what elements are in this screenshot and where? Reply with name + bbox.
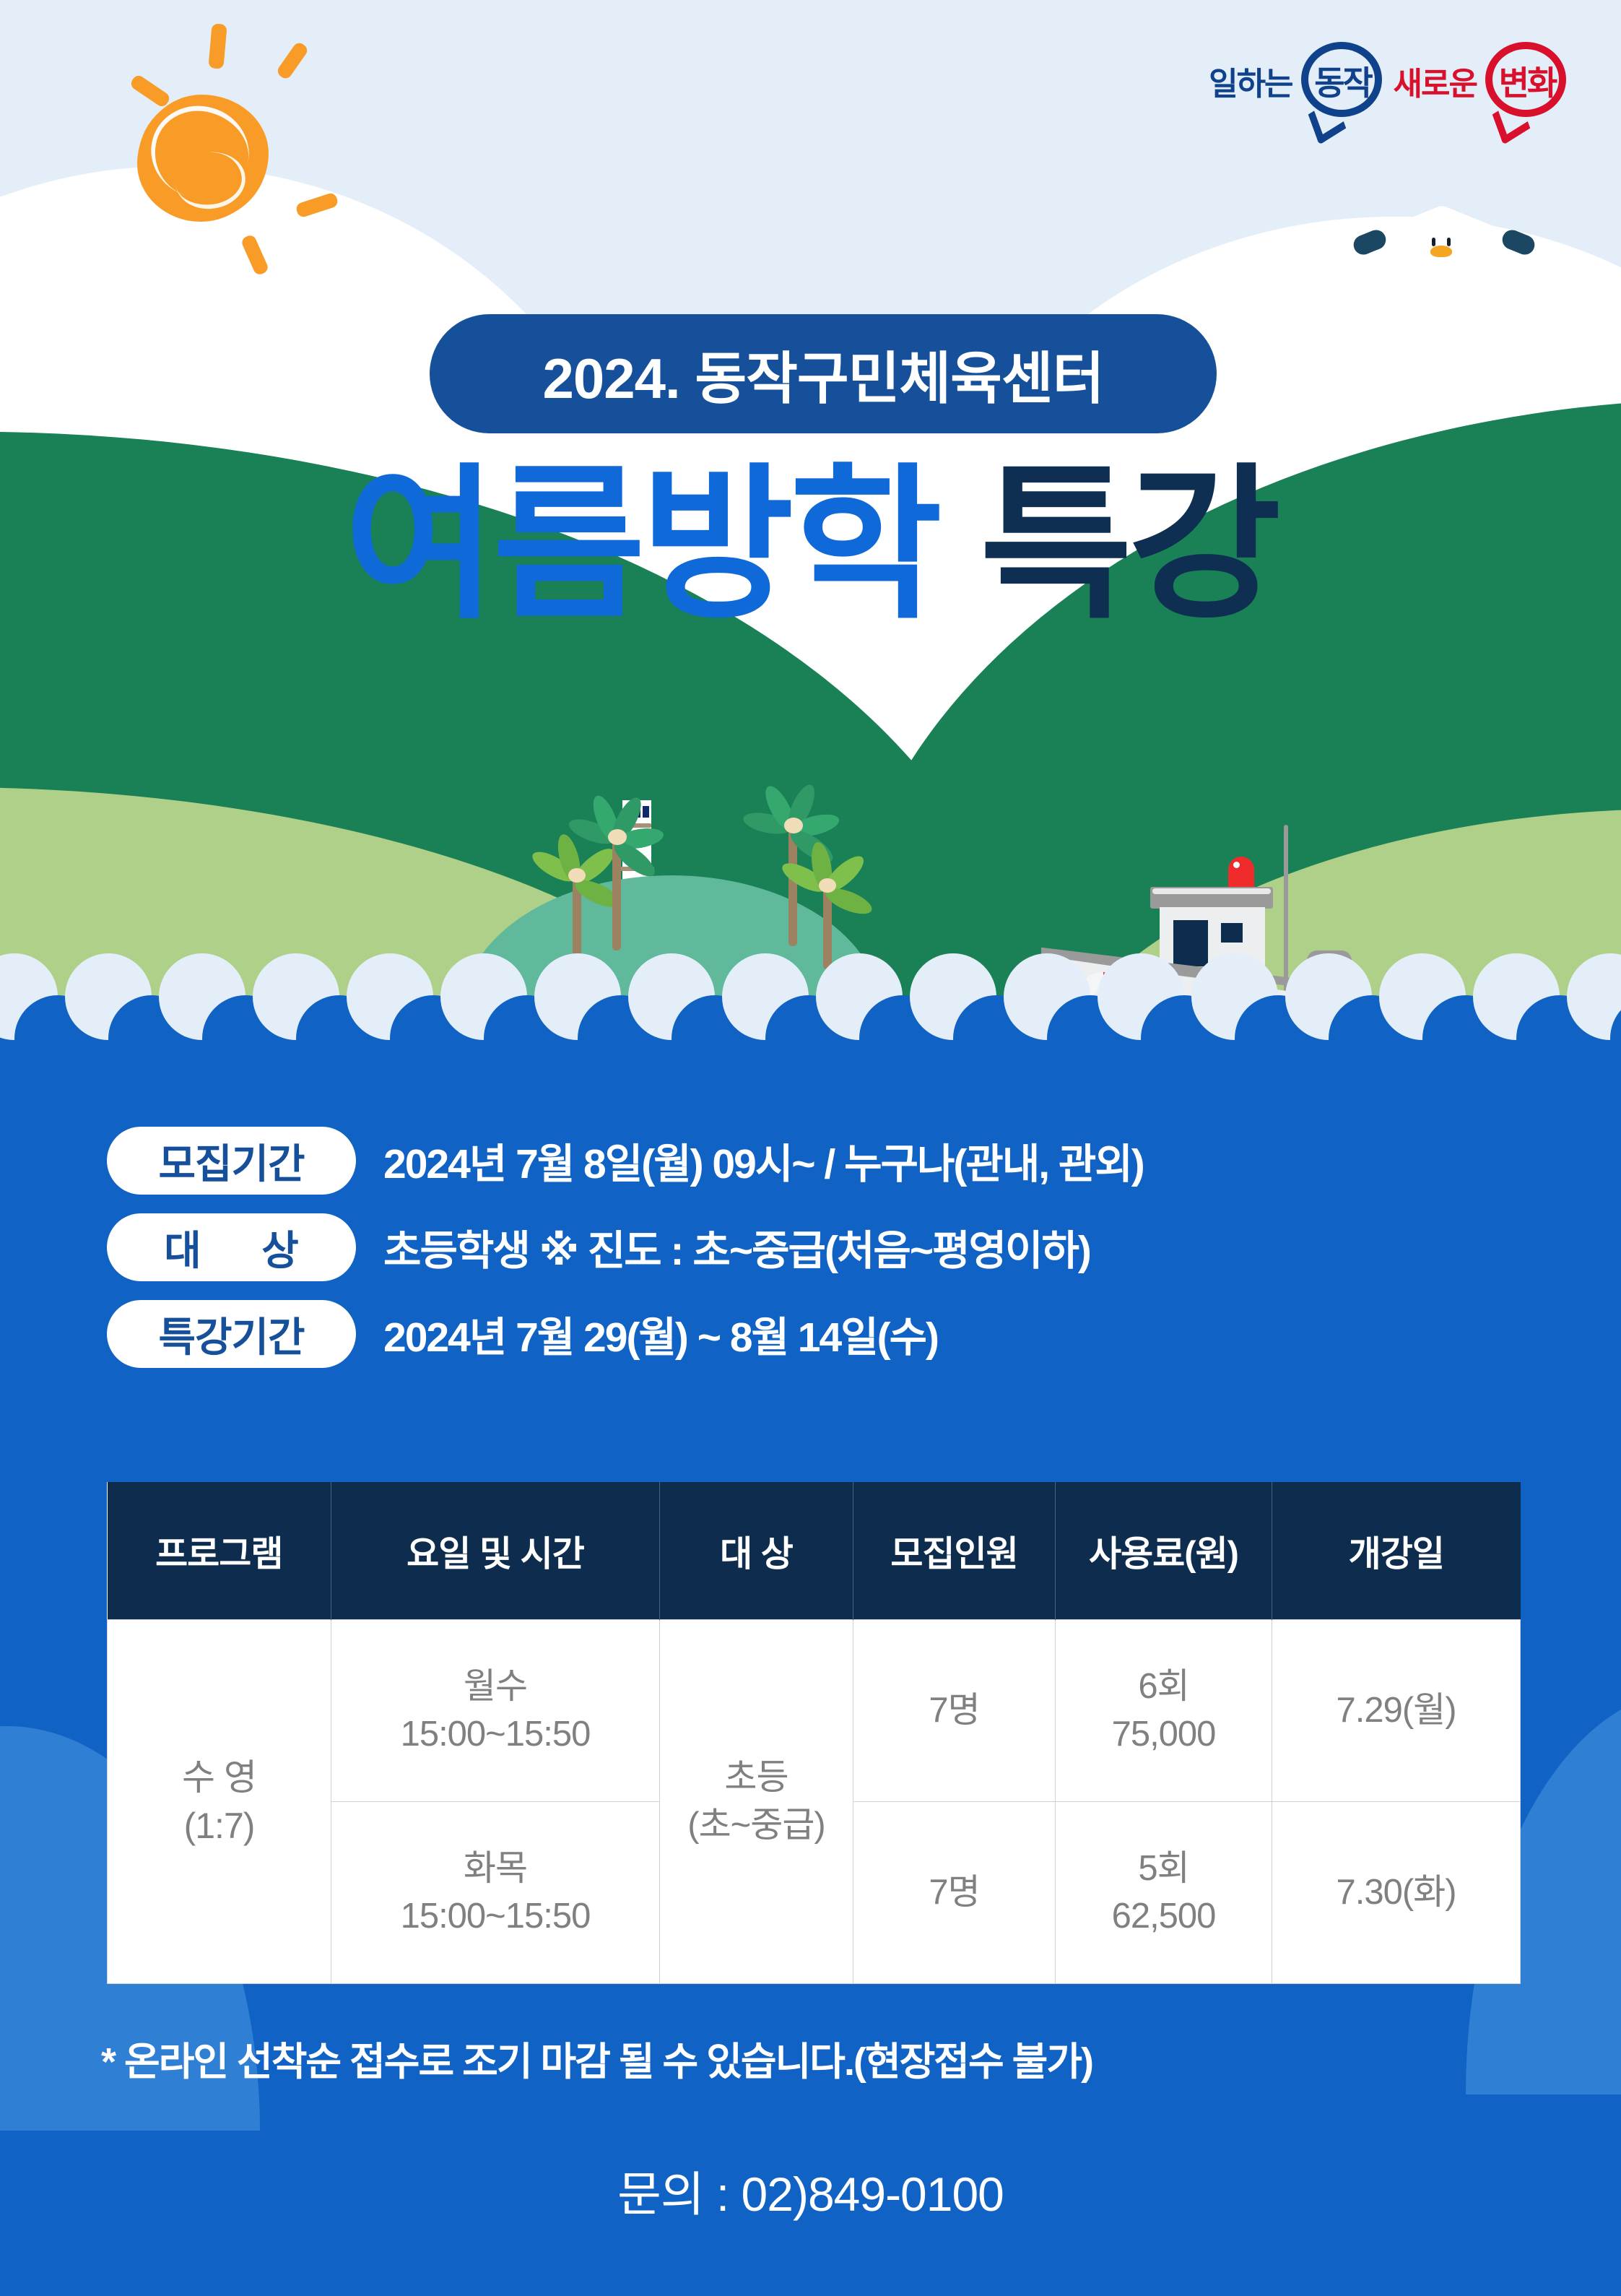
- col-header-target: 대 상: [660, 1482, 853, 1620]
- page-title: 여름방학 특강: [0, 462, 1621, 628]
- info-label-recruit-period: 모집기간: [107, 1127, 356, 1195]
- footer-note: * 온라인 선착순 접수로 조기 마감 될 수 있습니다.(현장접수 불가): [101, 2029, 1520, 2087]
- cell-target: 초등(초~중급): [660, 1620, 853, 1984]
- boat-light-icon: [1228, 857, 1254, 891]
- program-table: 프로그램 요일 및 시간 대 상 모집인원 사용료(원) 개강일 수 영(1:7…: [107, 1482, 1521, 1984]
- seagull-icon: [1357, 196, 1531, 276]
- poster-canvas: 일하는 동작 새로운 변화 2024. 동작구민체육센터 여름방학 특강 모집기…: [0, 0, 1621, 2296]
- info-list: 모집기간 2024년 7월 8일(월) 09시~ / 누구나(관내, 관외) 대…: [0, 1127, 1621, 1387]
- sun-icon: [69, 25, 329, 285]
- cell-fee: 5회62,500: [1056, 1802, 1272, 1984]
- col-header-schedule: 요일 및 시간: [331, 1482, 660, 1620]
- wave-foam: [0, 953, 1621, 1062]
- info-label-course-period: 특강기간: [107, 1300, 356, 1368]
- col-header-program: 프로그램: [108, 1482, 331, 1620]
- eyebrow-title: 2024. 동작구민체육센터: [430, 314, 1217, 433]
- palm-tree-icon: [787, 852, 885, 964]
- cell-capacity: 7명: [853, 1802, 1056, 1984]
- headline-secondary: 특강: [980, 452, 1277, 638]
- info-row-recruit-period: 모집기간 2024년 7월 8일(월) 09시~ / 누구나(관내, 관외): [0, 1127, 1621, 1195]
- headline-primary: 여름방학: [344, 452, 938, 638]
- info-value-course-period: 2024년 7월 29(월) ~ 8월 14일(수): [383, 1304, 938, 1364]
- info-row-target: 대 상 초등학생 ※ 진도 : 초~중급(처음~평영이하): [0, 1213, 1621, 1281]
- info-label-target: 대 상: [107, 1213, 356, 1281]
- info-value-recruit-period: 2024년 7월 8일(월) 09시~ / 누구나(관내, 관외): [383, 1131, 1144, 1190]
- table-row: 수 영(1:7) 월수15:00~15:50 초등(초~중급) 7명 6회75,…: [108, 1620, 1521, 1802]
- cell-fee: 6회75,000: [1056, 1620, 1272, 1802]
- table-header-row: 프로그램 요일 및 시간 대 상 모집인원 사용료(원) 개강일: [108, 1482, 1521, 1620]
- cell-schedule: 월수15:00~15:50: [331, 1620, 660, 1802]
- contact-phone: 문의 : 02)849-0100: [0, 2156, 1621, 2225]
- logo-bubble-byeonhwa: 변화: [1485, 42, 1569, 120]
- col-header-fee: 사용료(원): [1056, 1482, 1272, 1620]
- logo-slogan-part2: 새로운: [1394, 58, 1477, 104]
- cell-schedule: 화목15:00~15:50: [331, 1802, 660, 1984]
- info-row-course-period: 특강기간 2024년 7월 29(월) ~ 8월 14일(수): [0, 1300, 1621, 1368]
- cell-capacity: 7명: [853, 1620, 1056, 1802]
- info-value-target: 초등학생 ※ 진도 : 초~중급(처음~평영이하): [383, 1218, 1090, 1277]
- logo-bubble-text-1: 동작: [1314, 57, 1371, 105]
- logo-bubble-dongjak: 동작: [1301, 42, 1385, 120]
- cell-program: 수 영(1:7): [108, 1620, 331, 1984]
- logo-slogan-part1: 일하는: [1209, 58, 1292, 104]
- logo-bubble-text-2: 변화: [1499, 57, 1556, 105]
- cell-start-date: 7.30(화): [1272, 1802, 1521, 1984]
- col-header-start-date: 개강일: [1272, 1482, 1521, 1620]
- dongjak-logo: 일하는 동작 새로운 변화: [1209, 39, 1569, 123]
- palm-tree-icon: [570, 800, 679, 945]
- col-header-capacity: 모집인원: [853, 1482, 1056, 1620]
- cell-start-date: 7.29(월): [1272, 1620, 1521, 1802]
